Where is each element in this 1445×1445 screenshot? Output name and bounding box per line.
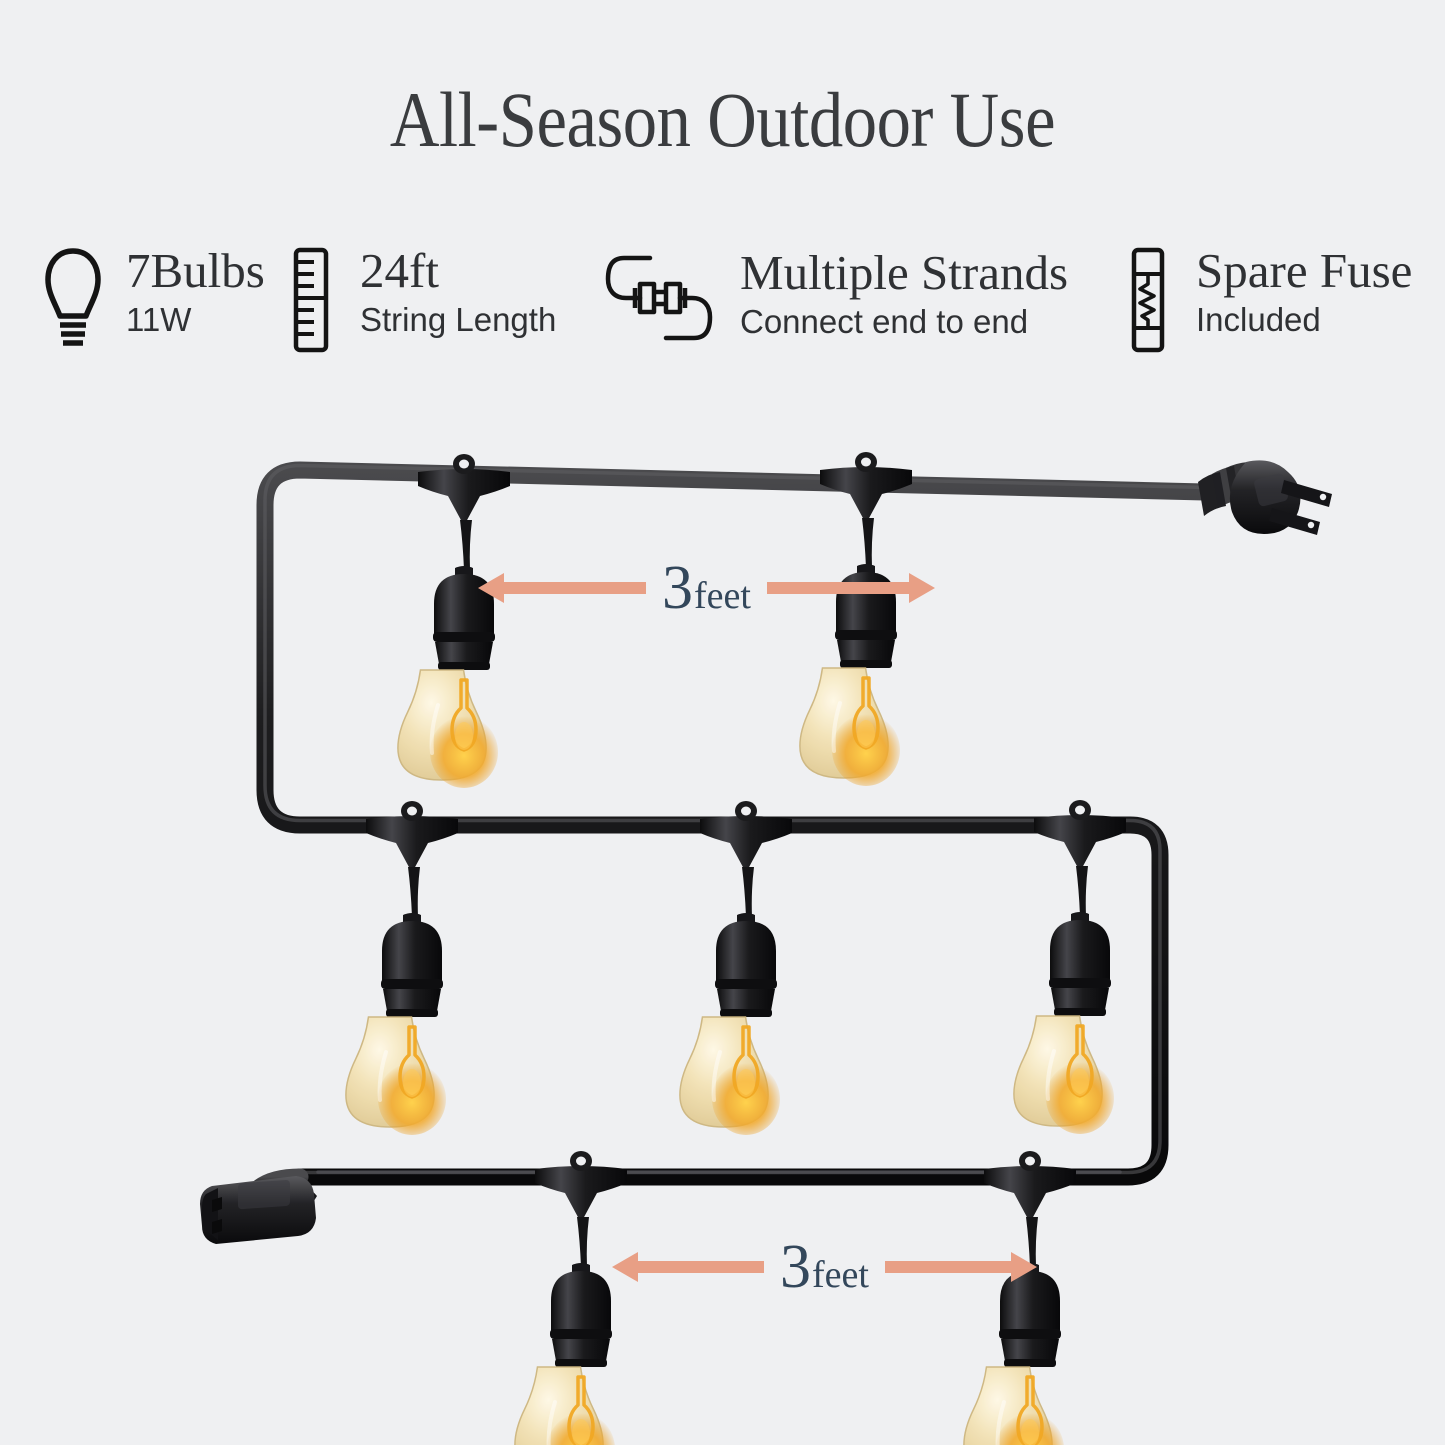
bulb-assembly [680,801,792,1135]
ruler-icon [288,246,334,359]
feature-spare-fuse-sub: Included [1196,302,1412,339]
feature-multiple-strands-sub: Connect end to end [740,304,1068,341]
bulb-assembly [346,801,458,1135]
two-prong-male-plug [1198,460,1332,535]
feature-string-length-headline: 24ft [360,246,556,295]
feature-multiple-strands: Multiple Strands Connect end to end [604,248,1068,353]
dimension-bottom-3feet: 3 feet [612,1232,1037,1302]
arrow-left-icon [478,568,646,608]
arrow-right-icon [885,1247,1037,1287]
dimension-top-label: 3 feet [646,557,767,619]
dimension-top-3feet: 3 feet [478,553,935,623]
page-title: All-Season Outdoor Use [87,78,1359,162]
fuse-icon [1126,246,1170,359]
arrow-right-icon [767,568,935,608]
dimension-top-number: 3 [662,557,693,619]
feature-string-length-sub: String Length [360,302,556,339]
feature-spare-fuse-headline: Spare Fuse [1196,246,1412,295]
bulb-assembly [515,1151,627,1445]
two-prong-female-socket [200,1176,317,1244]
feature-string-length: 24ft String Length [288,246,556,359]
feature-spare-fuse: Spare Fuse Included [1126,246,1412,359]
product-infographic: All-Season Outdoor Use 7Bulbs 11W [0,0,1445,1445]
light-bulb-icon [42,246,104,357]
feature-multiple-strands-headline: Multiple Strands [740,248,1068,297]
feature-list: 7Bulbs 11W 24ft String Len [0,240,1445,370]
dimension-bottom-unit: feet [812,1256,869,1294]
dimension-top-unit: feet [694,577,751,615]
plug-connect-icon [604,248,714,353]
dimension-bottom-number: 3 [780,1236,811,1298]
feature-bulbs: 7Bulbs 11W [42,246,265,357]
dimension-bottom-label: 3 feet [764,1236,885,1298]
arrow-left-icon [612,1247,764,1287]
feature-bulbs-sub: 11W [126,302,265,339]
feature-bulbs-headline: 7Bulbs [126,246,265,295]
bulb-assembly [1014,800,1126,1134]
